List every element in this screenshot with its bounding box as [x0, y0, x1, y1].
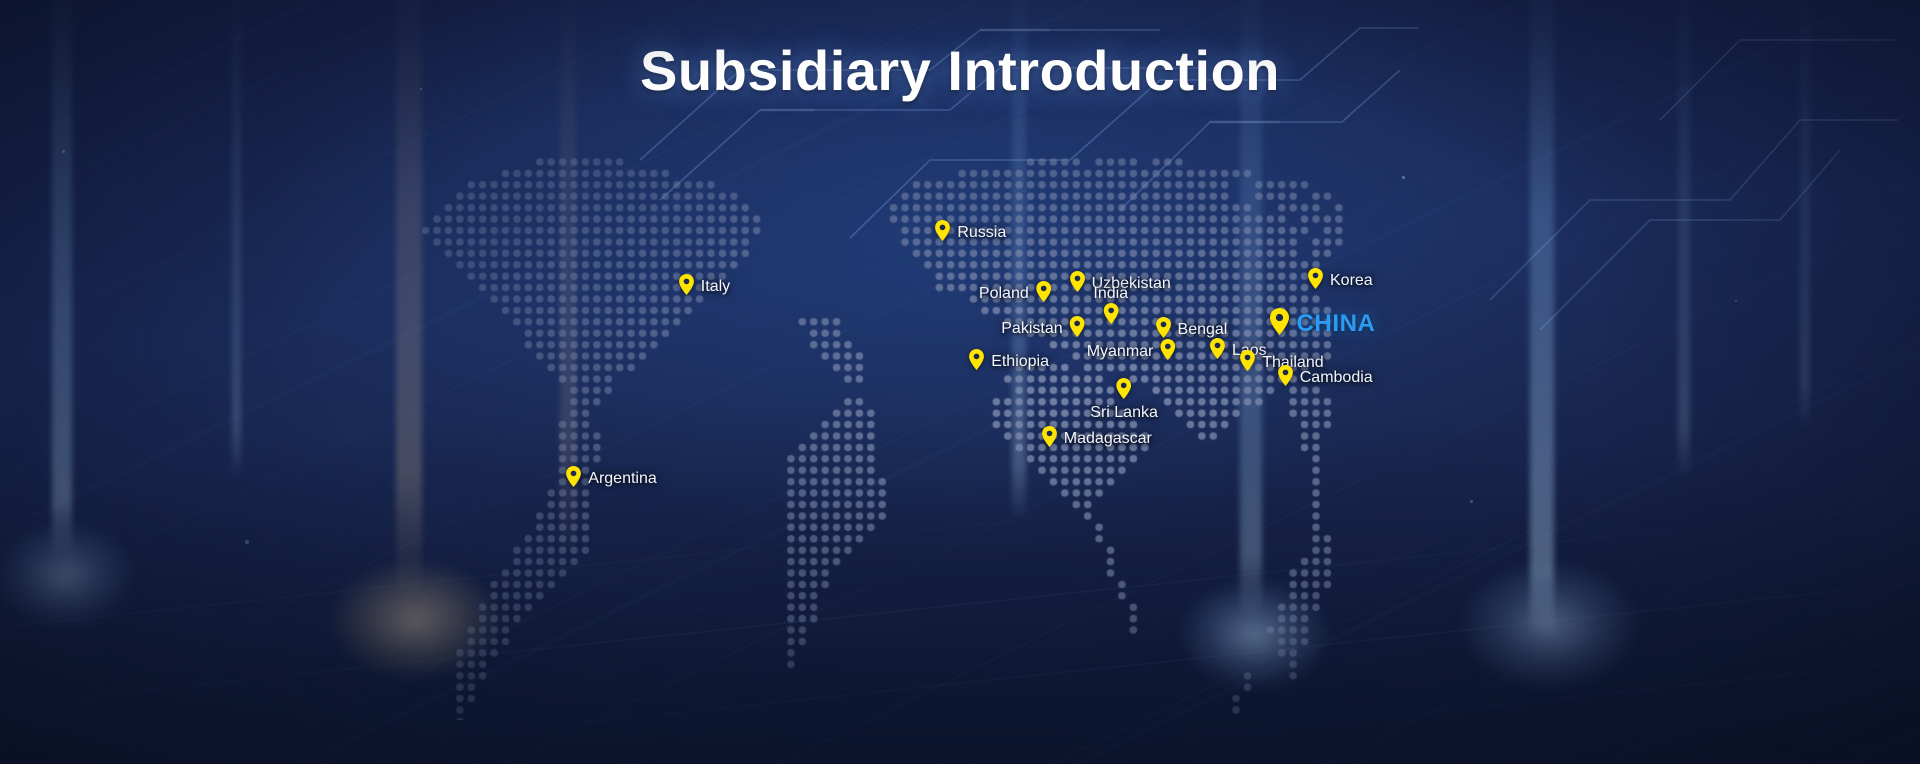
map-marker-label: Pakistan — [1001, 320, 1062, 338]
map-marker-poland[interactable]: Poland — [979, 281, 1051, 307]
map-marker-china[interactable]: CHINA — [1270, 308, 1375, 340]
map-marker-myanmar[interactable]: Myanmar — [1087, 339, 1176, 365]
map-marker-argentina[interactable]: Argentina — [566, 466, 657, 492]
page-title: Subsidiary Introduction — [0, 38, 1920, 103]
spark-dot — [62, 150, 65, 153]
map-marker-label: Myanmar — [1087, 343, 1154, 361]
location-pin-icon — [1036, 281, 1051, 307]
map-marker-cambodia[interactable]: Cambodia — [1278, 365, 1373, 391]
location-pin-icon — [1070, 316, 1085, 342]
world-map: RussiaItalyUzbekistanKoreaPolandIndiaPak… — [340, 140, 1550, 720]
map-marker-label: CHINA — [1296, 310, 1375, 338]
location-pin-icon — [1117, 378, 1132, 404]
map-marker-label: Korea — [1330, 272, 1373, 290]
location-pin-icon — [935, 220, 950, 246]
map-marker-india[interactable]: India — [1093, 285, 1128, 329]
location-pin-icon — [1070, 271, 1085, 297]
map-marker-italy[interactable]: Italy — [679, 274, 730, 300]
location-pin-icon — [1210, 338, 1225, 364]
location-pin-icon — [1308, 268, 1323, 294]
spark-dot — [245, 540, 249, 544]
location-pin-icon — [1103, 303, 1118, 329]
map-marker-label: India — [1093, 285, 1128, 303]
map-marker-label: Sri Lanka — [1090, 404, 1158, 422]
map-marker-label: Ethiopia — [991, 353, 1049, 371]
location-pin-icon — [566, 466, 581, 492]
location-pin-icon — [679, 274, 694, 300]
map-marker-pakistan[interactable]: Pakistan — [1001, 316, 1084, 342]
map-marker-label: Argentina — [588, 470, 657, 488]
location-pin-icon — [1160, 339, 1175, 365]
spark-dot — [1735, 300, 1737, 302]
map-marker-sri-lanka[interactable]: Sri Lanka — [1090, 378, 1158, 422]
map-marker-label: Bengal — [1178, 321, 1228, 339]
map-marker-label: Russia — [957, 224, 1006, 242]
map-marker-label: Poland — [979, 285, 1029, 303]
map-marker-label: Madagascar — [1064, 430, 1152, 448]
map-marker-label: Cambodia — [1300, 369, 1373, 387]
map-marker-russia[interactable]: Russia — [935, 220, 1006, 246]
light-beam-glow — [0, 520, 135, 630]
location-pin-icon — [1042, 426, 1057, 452]
location-pin-icon — [1240, 350, 1255, 376]
map-marker-ethiopia[interactable]: Ethiopia — [969, 349, 1049, 375]
map-marker-madagascar[interactable]: Madagascar — [1042, 426, 1152, 452]
location-pin-icon — [1278, 365, 1293, 391]
location-pin-icon — [1270, 308, 1289, 340]
slide-canvas: Subsidiary Introduction RussiaItalyUzbek… — [0, 0, 1920, 764]
map-marker-label: Italy — [701, 278, 730, 296]
map-marker-korea[interactable]: Korea — [1308, 268, 1373, 294]
location-pin-icon — [969, 349, 984, 375]
